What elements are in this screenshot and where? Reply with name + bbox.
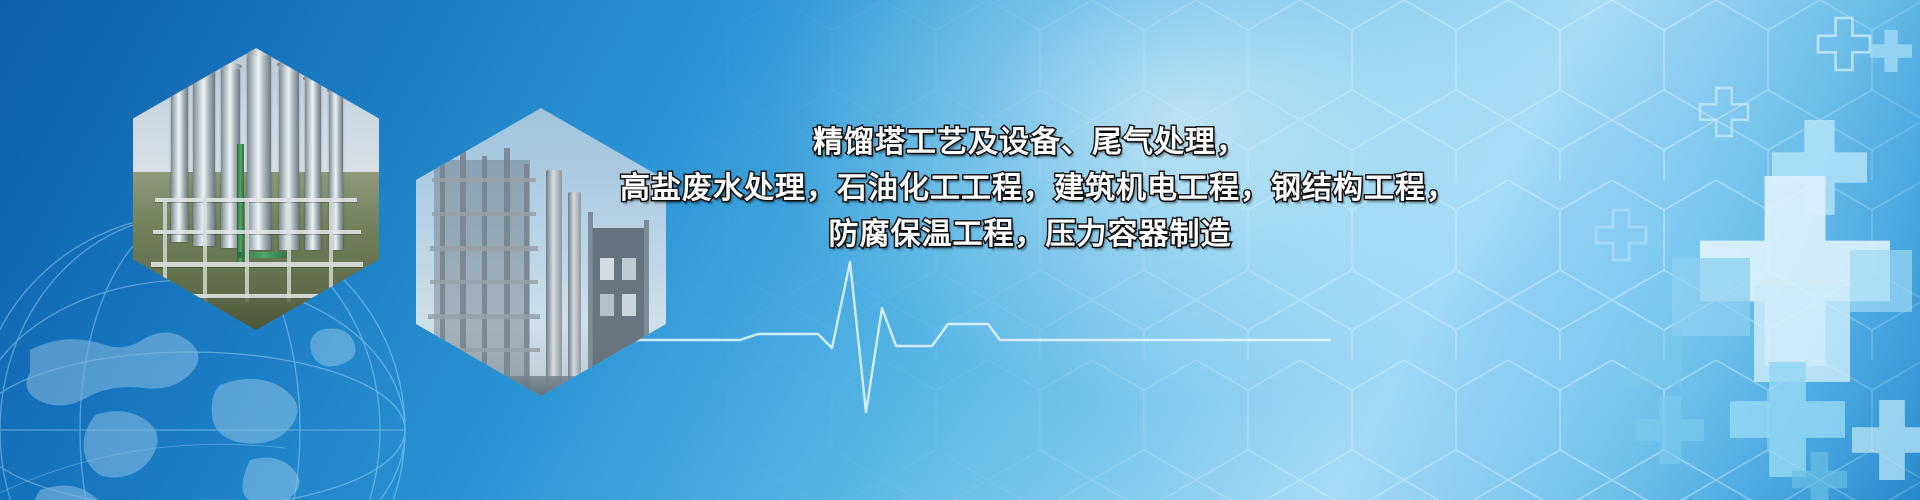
headline-line-2: 高盐废水处理，石油化工工程，建筑机电工程，钢结构工程，: [620, 166, 1440, 212]
hexagon-photo-distillation-plant: [133, 48, 379, 330]
headline-line-1: 精馏塔工艺及设备、尾气处理，: [620, 120, 1440, 166]
medical-cross-cluster: [1400, 0, 1920, 500]
headline-line-3: 防腐保温工程，压力容器制造: [620, 212, 1440, 258]
headline-block: 精馏塔工艺及设备、尾气处理， 高盐废水处理，石油化工工程，建筑机电工程，钢结构工…: [620, 120, 1440, 258]
hero-banner: 精馏塔工艺及设备、尾气处理， 高盐废水处理，石油化工工程，建筑机电工程，钢结构工…: [0, 0, 1920, 500]
